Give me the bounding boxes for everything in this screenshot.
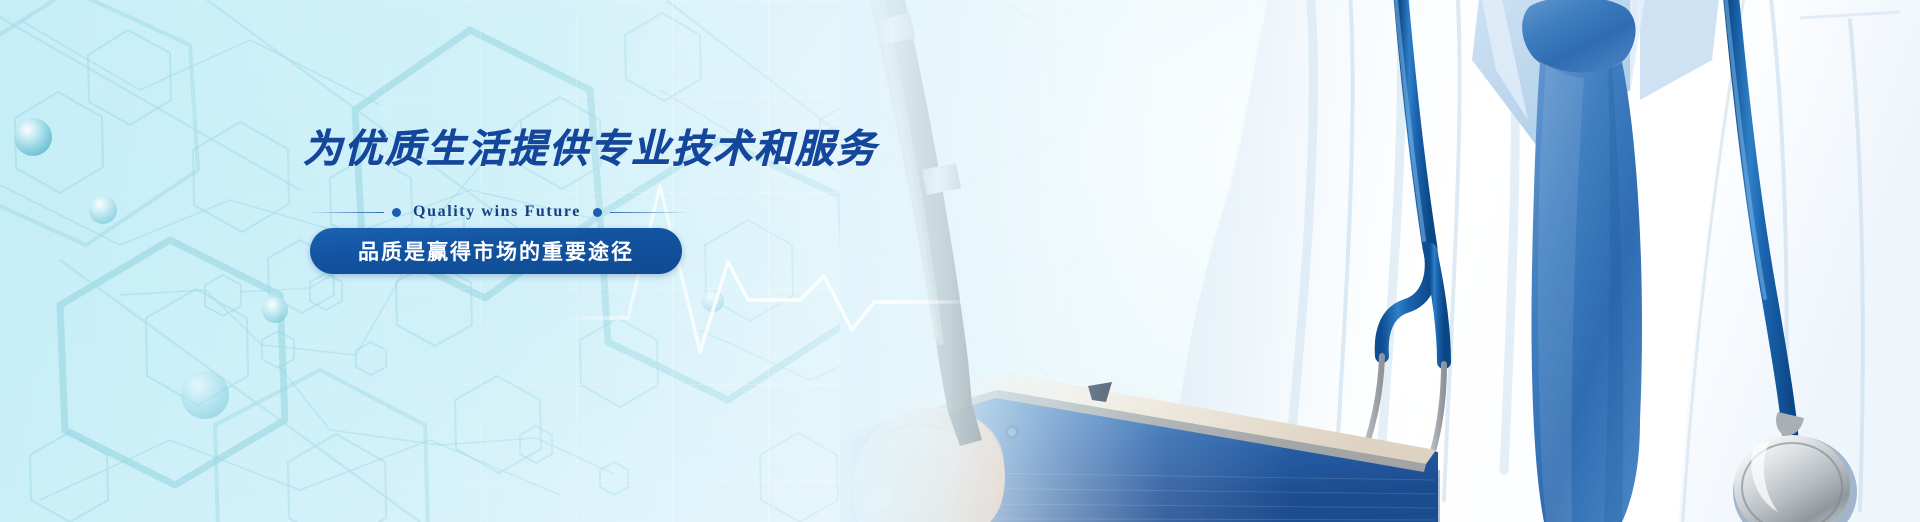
divider-rule-right — [610, 212, 688, 213]
page-title: 为优质生活提供专业技术和服务 — [303, 126, 877, 174]
divider-dot-right — [593, 208, 602, 217]
divider: Quality wins Future — [306, 200, 688, 224]
divider-dot-left — [392, 208, 401, 217]
slogan-button-label: 品质是赢得市场的重要途径 — [358, 236, 634, 266]
divider-tagline: Quality wins Future — [409, 203, 585, 221]
banner-content: 为优质生活提供专业技术和服务 Quality wins Future 品质是赢得… — [0, 0, 960, 522]
divider-rule-left — [306, 212, 384, 213]
medical-hero-banner: 为优质生活提供专业技术和服务 Quality wins Future 品质是赢得… — [0, 0, 1920, 522]
slogan-button[interactable]: 品质是赢得市场的重要途径 — [310, 228, 682, 274]
